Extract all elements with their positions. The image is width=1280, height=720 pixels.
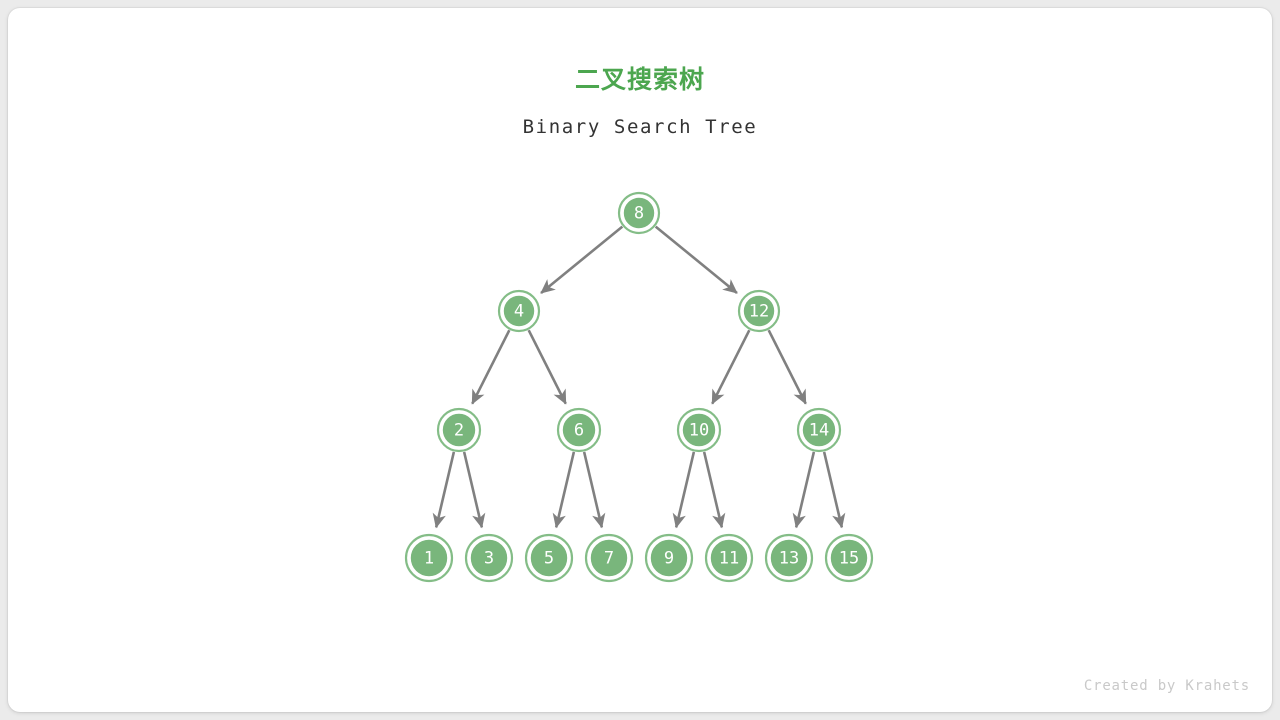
node-value-label: 7 [604,549,614,569]
tree-edge-14-to-13 [796,452,814,527]
tree-node-14[interactable]: 14 [798,409,840,451]
diagram-card: 二叉搜索树 Binary Search Tree 841226101413579… [8,8,1272,712]
tree-node-10[interactable]: 10 [678,409,720,451]
tree-edge-4-to-2 [472,330,509,403]
tree-edge-8-to-4 [541,227,622,293]
tree-edge-2-to-1 [436,452,454,527]
tree-node-6[interactable]: 6 [558,409,600,451]
node-value-label: 14 [809,421,829,441]
node-value-label: 11 [719,549,739,569]
tree-node-5[interactable]: 5 [526,535,572,581]
tree-edges-layer [436,227,842,528]
node-value-label: 4 [514,302,524,322]
tree-edge-6-to-7 [584,452,602,527]
node-value-label: 8 [634,204,644,224]
node-value-label: 2 [454,421,464,441]
tree-node-1[interactable]: 1 [406,535,452,581]
tree-node-2[interactable]: 2 [438,409,480,451]
tree-node-9[interactable]: 9 [646,535,692,581]
node-value-label: 6 [574,421,584,441]
tree-edge-10-to-9 [676,452,694,527]
node-value-label: 13 [779,549,799,569]
watermark-credit: Created by Krahets [1084,678,1250,694]
tree-node-3[interactable]: 3 [466,535,512,581]
tree-node-11[interactable]: 11 [706,535,752,581]
node-value-label: 12 [749,302,769,322]
tree-node-13[interactable]: 13 [766,535,812,581]
tree-edge-10-to-11 [704,452,722,527]
tree-edge-6-to-5 [556,452,574,527]
tree-edge-2-to-3 [464,452,482,527]
tree-edge-14-to-15 [824,452,842,527]
tree-node-8[interactable]: 8 [619,193,659,233]
tree-node-7[interactable]: 7 [586,535,632,581]
node-value-label: 3 [484,549,494,569]
node-value-label: 9 [664,549,674,569]
tree-edge-4-to-6 [529,330,566,403]
tree-node-15[interactable]: 15 [826,535,872,581]
node-value-label: 1 [424,549,434,569]
tree-edge-8-to-12 [656,227,737,293]
tree-nodes-layer: 841226101413579111315 [406,193,872,581]
binary-search-tree-diagram: 841226101413579111315 [8,8,1272,712]
tree-edge-12-to-10 [712,330,749,403]
node-value-label: 10 [689,421,709,441]
tree-edge-12-to-14 [769,330,806,403]
node-value-label: 15 [839,549,859,569]
node-value-label: 5 [544,549,554,569]
tree-node-4[interactable]: 4 [499,291,539,331]
tree-node-12[interactable]: 12 [739,291,779,331]
